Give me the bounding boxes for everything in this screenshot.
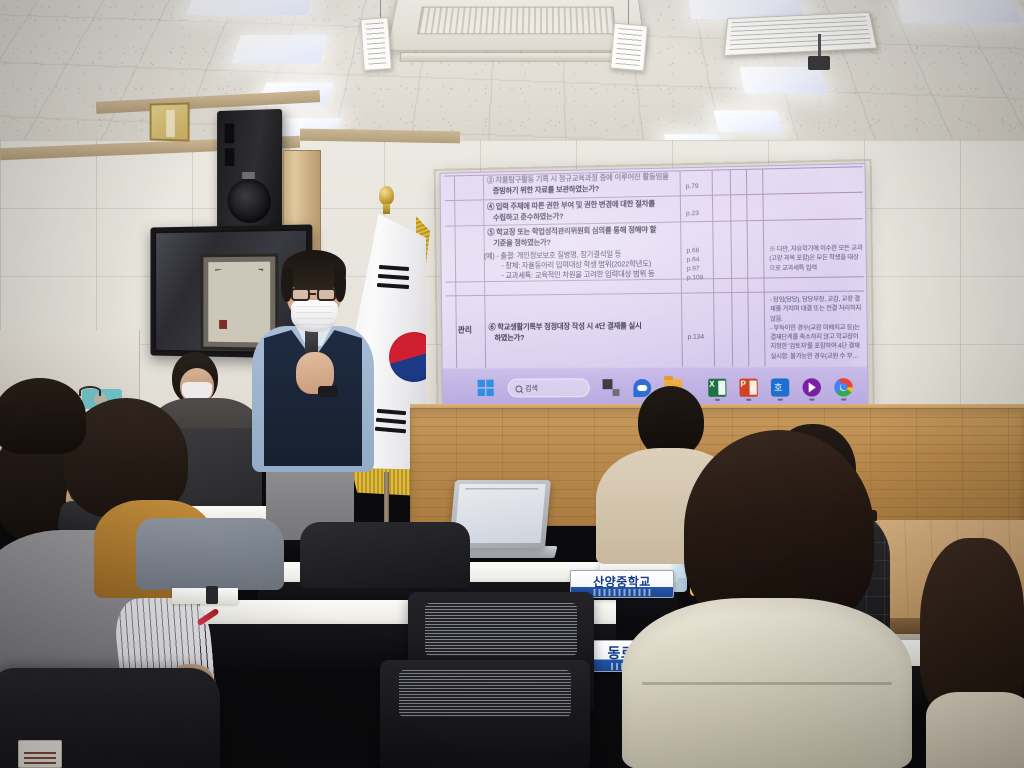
taskbar-search-input[interactable]: 검색 [508,378,590,397]
glasses-bridge [309,293,316,295]
presenter-glasses-left [291,288,310,301]
translate-icon[interactable] [771,378,790,396]
attendee-hair [920,538,1024,718]
ceiling-light-panel [714,111,783,132]
checklist-category-label: 관리 [458,325,472,337]
ceiling-air-conditioner [386,0,645,51]
sign-text-lines [615,28,642,66]
sign-wire [628,0,629,26]
speaker-port [225,123,235,143]
projector-arm [818,34,821,58]
checklist-question-5-line2: 기준을 정하였는가? [493,236,678,250]
notice-text-lines [729,16,871,51]
notebook-on-desk [172,588,238,604]
trigram-gon [375,427,406,434]
trigram-gon [376,418,406,425]
page-ref-5d: p.108 [687,273,704,283]
page-ref-3: p.79 [686,182,699,192]
empty-chair[interactable] [380,660,590,768]
sign-text-lines [366,22,387,65]
search-placeholder-text: 검색 [525,383,538,393]
projector [808,56,830,70]
ceiling-light-panel [898,0,1023,23]
trigram-geon [377,283,409,289]
table-column-divider [746,169,749,367]
projection-screen: ③ 자율탐구활동 기록 시 정규교육과정 중에 이루어진 활동임을 증빙하기 위… [439,163,868,408]
checklist-note-5: ※ 다만, 자유학기에 이수한 모든 교과(고양 과목 포함)은 모든 학생을 … [769,244,864,274]
table-column-divider [483,175,486,368]
speaker-badge [242,172,255,179]
table-column-divider [712,170,715,367]
trigram-geon [379,265,409,271]
wall-speaker [217,109,282,236]
laptop-document-lines [461,488,538,537]
ac-diffuser-bar [399,52,630,62]
hanging-sign [610,23,648,72]
attendee-hair [0,378,86,454]
flag-finial-neck [383,204,390,214]
presenter-face-mask [291,300,338,332]
jacket-seam [642,682,892,685]
chair-tag-mark [24,752,56,764]
attendee-shoulder [926,692,1024,768]
ac-grille [417,7,616,35]
flag-finial [379,186,394,205]
coat-draped [300,522,470,588]
chair-mesh-back [425,603,578,656]
hanging-sign [360,17,392,71]
checklist-note-6: - 담임(담당), 담당부장, 교감, 교장 결재를 거치며 대결 또는 전결 … [770,295,865,362]
table-column-divider [454,175,457,368]
chair-mesh-back [399,670,571,718]
attendee-far-left-back [0,378,90,454]
table-column-divider [730,169,733,366]
slide-checklist-table: ③ 자율탐구활동 기록 시 정규교육과정 중에 이루어진 활동임을 증빙하기 위… [444,166,865,368]
speaker-cone [228,179,271,224]
attendee-far-right [920,538,1024,768]
mask-pleats [296,306,333,326]
table-column-divider [762,168,765,366]
seminar-room-photo: ③ 자율탐구활동 기록 시 정규교육과정 중에 이루어진 활동임을 증빙하기 위… [0,0,1024,768]
trigram-geon [378,274,409,280]
trigram-gon [377,409,406,416]
media-player-icon[interactable] [802,378,821,396]
page-ref-6: p.134 [687,333,704,343]
ceiling-light-panel [740,67,828,93]
calligraphy-paper [208,262,270,343]
coat-draped [136,518,284,590]
attendee-cream-puffer [622,430,922,768]
wristwatch [318,386,338,397]
speaker-port [225,148,235,166]
windows-start-icon[interactable] [478,379,496,397]
powerpoint-icon[interactable] [739,378,757,396]
ceiling-light-panel [231,35,328,63]
hanging-notice-board [724,12,878,56]
calligraphy-seal [219,320,227,329]
checklist-question-6-line2: 하였는가? [494,332,679,344]
chrome-icon[interactable] [834,378,853,396]
presenter-glasses-right [317,288,336,301]
phone-on-desk [206,586,218,604]
wall-light-box [150,102,190,141]
ceiling-light-panel [187,0,312,15]
page-ref-4: p.23 [686,209,699,219]
